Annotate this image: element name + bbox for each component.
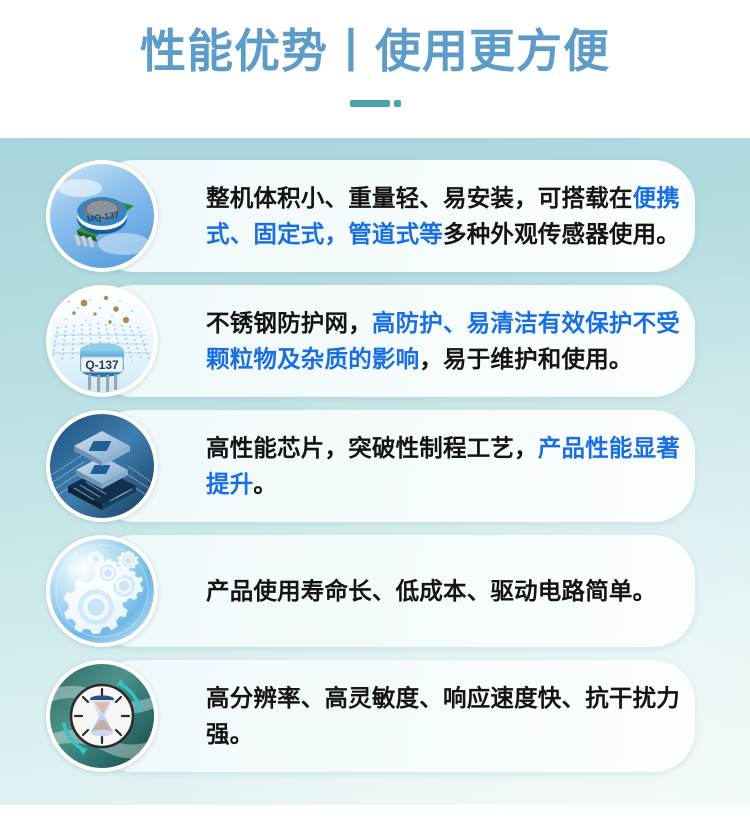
feature-card-text: 整机体积小、重量轻、易安装，可搭载在便携式、固定式，管道式等多种外观传感器使用。 <box>206 160 686 272</box>
feature-card-list: MQ-137 整机体积小、重量轻、易安装，可搭载在便携式、固定式，管道式等多种外… <box>0 138 750 780</box>
page-header: 性能优势丨使用更方便 <box>0 0 750 138</box>
feature-card-text: 高分辨率、高灵敏度、响应速度快、抗干扰力强。 <box>206 660 686 772</box>
feature-highlights-page: 性能优势丨使用更方便 <box>0 0 750 835</box>
text-segment: 多种外观传感器使用。 <box>443 221 680 247</box>
gears-icon <box>46 535 158 647</box>
text-segment: 高性能芯片，突破性制程工艺， <box>206 435 538 461</box>
mq137-gas-sensor-module-icon: MQ-137 <box>46 160 158 272</box>
divider-bar-icon <box>350 100 390 107</box>
title-divider <box>0 98 750 108</box>
text-segment: 。 <box>253 471 277 497</box>
text-segment: ，易于维护和使用。 <box>419 346 632 372</box>
text-segment: 整机体积小、重量轻、易安装，可搭载在 <box>206 185 633 211</box>
feature-card: MQ-137 整机体积小、重量轻、易安装，可搭载在便携式、固定式，管道式等多种外… <box>46 160 695 272</box>
feature-card-text: 产品使用寿命长、低成本、驱动电路简单。 <box>206 535 686 647</box>
hourglass-clock-icon <box>46 660 158 772</box>
text-segment: 高分辨率、高灵敏度、响应速度快、抗干扰力强。 <box>206 685 680 747</box>
divider-dot-icon <box>394 100 401 107</box>
semiconductor-chip-icon <box>46 410 158 522</box>
feature-card-text: 高性能芯片，突破性制程工艺，产品性能显著提升。 <box>206 410 686 522</box>
text-segment: 不锈钢防护网， <box>206 310 372 336</box>
feature-card-text: 不锈钢防护网，高防护、易清洁有效保护不受颗粒物及杂质的影响，易于维护和使用。 <box>206 285 686 397</box>
text-segment: 产品使用寿命长、低成本、驱动电路简单。 <box>206 578 656 604</box>
page-title: 性能优势丨使用更方便 <box>0 22 750 80</box>
svg-text:Q-137: Q-137 <box>85 358 119 372</box>
feature-card: 产品使用寿命长、低成本、驱动电路简单。 <box>46 535 695 647</box>
stainless-steel-mesh-sensor-icon: Q-137 <box>46 285 158 397</box>
feature-card: 高分辨率、高灵敏度、响应速度快、抗干扰力强。 <box>46 660 695 772</box>
feature-card: Q-137 不锈钢防护网，高防护、易清洁有效保护不受颗粒物及杂质的影响，易于维护… <box>46 285 695 397</box>
feature-card: 高性能芯片，突破性制程工艺，产品性能显著提升。 <box>46 410 695 522</box>
